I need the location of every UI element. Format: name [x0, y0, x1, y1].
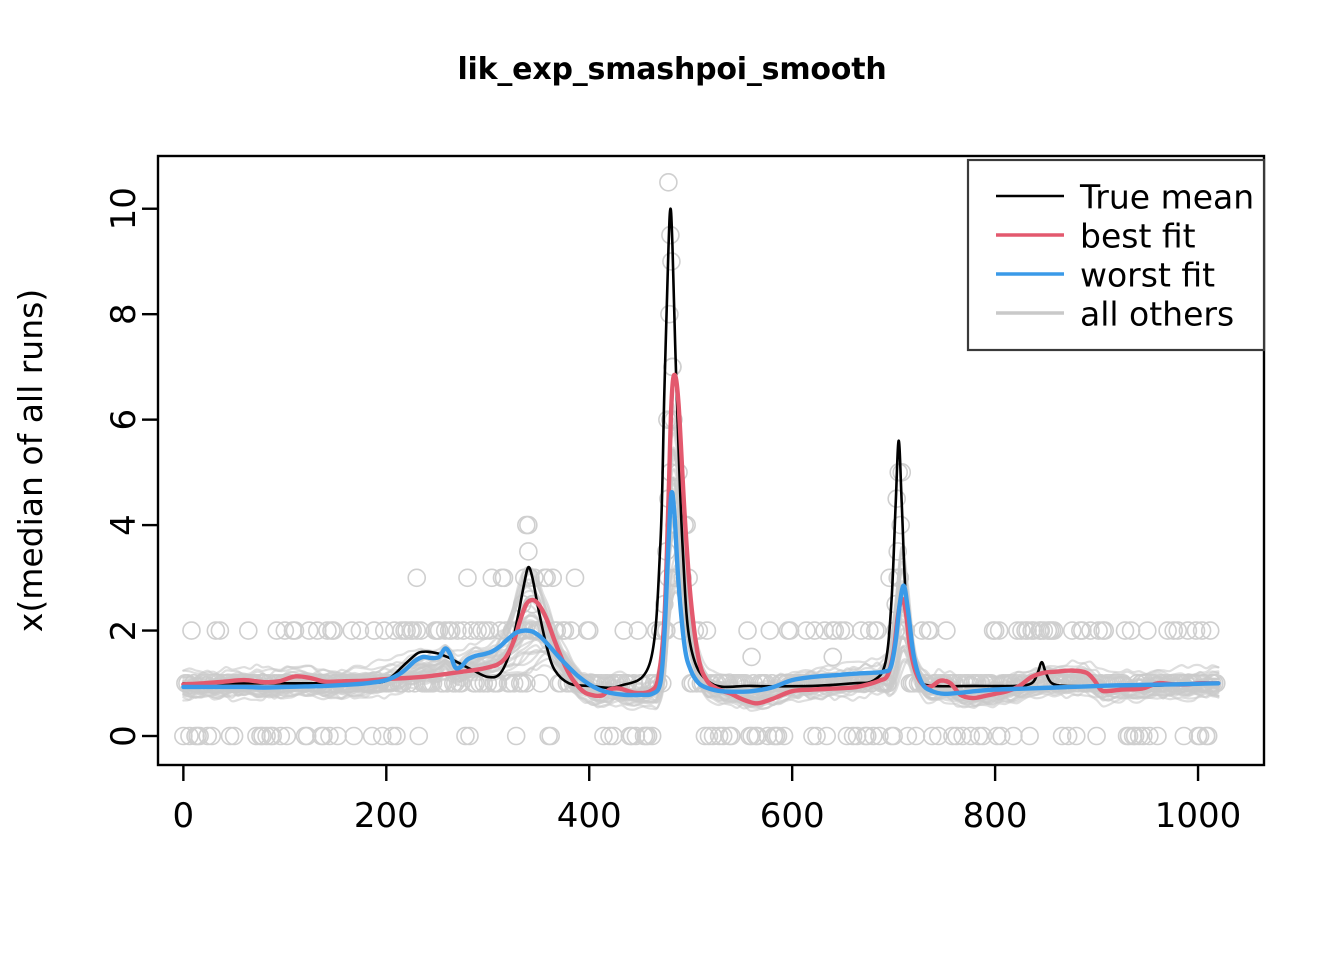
scatter-point	[459, 569, 476, 586]
x-tick-label: 400	[557, 796, 622, 836]
y-tick-label: 4	[104, 514, 144, 536]
scatter-point	[1005, 728, 1022, 745]
legend-label: all others	[1080, 295, 1234, 334]
x-tick-label: 800	[963, 796, 1028, 836]
scatter-point	[364, 728, 381, 745]
scatter-point	[520, 543, 537, 560]
legend-label: worst fit	[1080, 256, 1215, 295]
plot-area: 020040060080010000246810x(median of all …	[0, 0, 1344, 960]
y-tick-label: 0	[104, 725, 144, 747]
y-axis-label: x(median of all runs)	[11, 289, 50, 632]
scatter-point	[660, 174, 677, 191]
scatter-point	[1021, 728, 1038, 745]
scatter-point	[824, 648, 841, 665]
y-tick-label: 10	[104, 187, 144, 230]
scatter-point	[222, 728, 239, 745]
x-tick-label: 1000	[1155, 796, 1242, 836]
x-tick-label: 0	[173, 796, 195, 836]
scatter-point	[508, 728, 525, 745]
scatter-point	[739, 622, 756, 639]
y-tick-label: 6	[104, 409, 144, 431]
chart-legend[interactable]: True meanbest fitworst fitall others	[968, 160, 1264, 350]
scatter-point	[410, 728, 427, 745]
scatter-point	[938, 622, 955, 639]
y-tick-label: 2	[104, 620, 144, 642]
scatter-point	[1169, 622, 1186, 639]
y-tick-label: 8	[104, 303, 144, 325]
scatter-point	[226, 728, 243, 745]
x-tick-label: 200	[354, 796, 419, 836]
scatter-point	[461, 728, 478, 745]
scatter-point	[567, 569, 584, 586]
scatter-point	[1139, 622, 1156, 639]
scatter-point	[408, 569, 425, 586]
scatter-point	[183, 622, 200, 639]
scatter-point	[761, 622, 778, 639]
scatter-point	[376, 622, 393, 639]
scatter-point	[808, 728, 825, 745]
legend-label: True mean	[1079, 178, 1254, 217]
scatter-point	[1088, 728, 1105, 745]
x-tick-label: 600	[760, 796, 825, 836]
scatter-point	[345, 728, 362, 745]
chart-figure: lik_exp_smashpoi_smooth 0200400600800100…	[0, 0, 1344, 960]
scatter-point	[211, 622, 228, 639]
scatter-point	[240, 622, 257, 639]
scatter-point	[836, 622, 853, 639]
scatter-point	[207, 622, 224, 639]
scatter-point	[457, 728, 474, 745]
scatter-point	[743, 648, 760, 665]
scatter-point	[605, 728, 622, 745]
legend-label: best fit	[1080, 217, 1196, 256]
scatter-point	[384, 728, 401, 745]
